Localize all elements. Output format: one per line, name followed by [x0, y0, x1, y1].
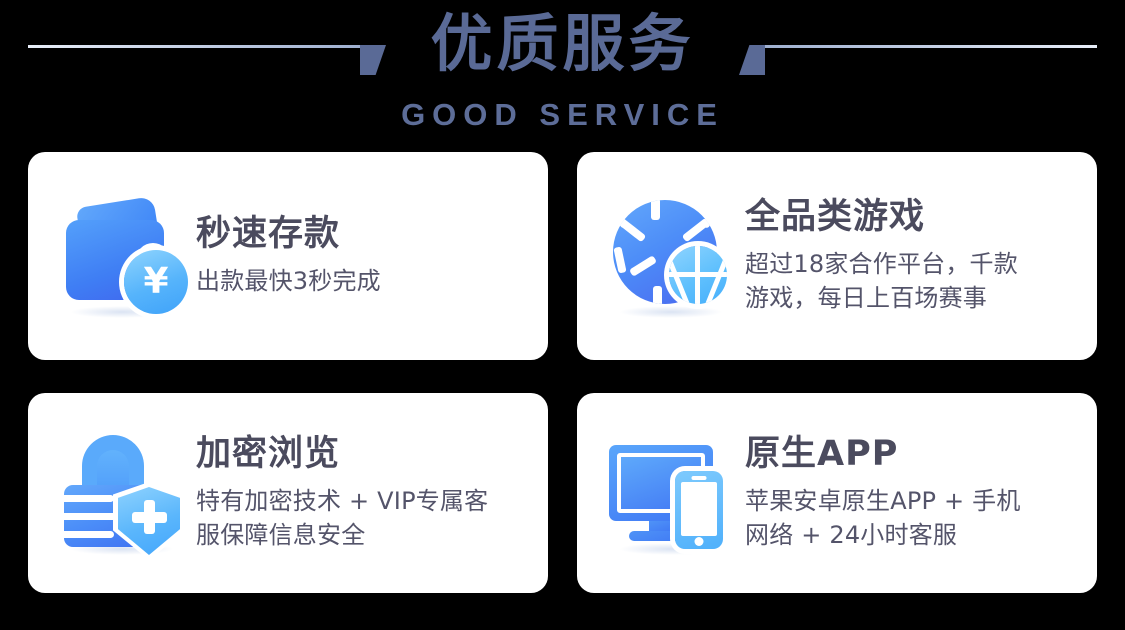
subtitle-line: 特有加密技术 + VIP专属客: [196, 484, 526, 518]
card-subtitle: 苹果安卓原生APP + 手机 网络 + 24小时客服: [745, 484, 1075, 552]
feature-card-native-app[interactable]: 原生APP 苹果安卓原生APP + 手机 网络 + 24小时客服: [577, 393, 1097, 593]
subtitle-line: 出款最快3秒完成: [196, 264, 526, 298]
card-title: 秒速存款: [196, 214, 526, 254]
phone-device: [675, 471, 723, 549]
soccer-basketball-icon: [607, 190, 739, 322]
yen-coin-badge: ¥: [124, 250, 188, 314]
card-title: 全品类游戏: [745, 197, 1075, 237]
subtitle-line: 网络 + 24小时客服: [745, 518, 1075, 552]
icon-shadow: [619, 306, 723, 318]
lock-shield-icon: [58, 427, 190, 559]
feature-card-grid: ¥ 秒速存款 出款最快3秒完成: [28, 152, 1097, 593]
header-rule-right: [765, 45, 1097, 48]
card-subtitle: 超过18家合作平台，千款 游戏，每日上百场赛事: [745, 247, 1075, 315]
page-header: 优质服务 GOOD SERVICE: [0, 0, 1125, 150]
card-text-block: 原生APP 苹果安卓原生APP + 手机 网络 + 24小时客服: [739, 434, 1075, 551]
card-title: 加密浏览: [196, 434, 526, 474]
card-subtitle: 出款最快3秒完成: [196, 264, 526, 298]
phone-home-button: [695, 537, 704, 546]
subtitle-line: 超过18家合作平台，千款: [745, 247, 1075, 281]
card-text-block: 全品类游戏 超过18家合作平台，千款 游戏，每日上百场赛事: [739, 197, 1075, 314]
feature-card-deposit[interactable]: ¥ 秒速存款 出款最快3秒完成: [28, 152, 548, 360]
subtitle-line: 苹果安卓原生APP + 手机: [745, 484, 1075, 518]
card-text-block: 加密浏览 特有加密技术 + VIP专属客 服保障信息安全: [190, 434, 526, 551]
subtitle-line: 游戏，每日上百场赛事: [745, 281, 1075, 315]
card-text-block: 秒速存款 出款最快3秒完成: [190, 214, 526, 297]
feature-card-encryption[interactable]: 加密浏览 特有加密技术 + VIP专属客 服保障信息安全: [28, 393, 548, 593]
wallet-yen-icon: ¥: [58, 190, 190, 322]
card-subtitle: 特有加密技术 + VIP专属客 服保障信息安全: [196, 484, 526, 552]
promo-page: 优质服务 GOOD SERVICE ¥ 秒速存款 出款最快3秒完成: [0, 0, 1125, 630]
phone-screen: [681, 482, 717, 536]
feature-card-games[interactable]: 全品类游戏 超过18家合作平台，千款 游戏，每日上百场赛事: [577, 152, 1097, 360]
cross-icon-horizontal: [132, 512, 167, 523]
subtitle-line: 服保障信息安全: [196, 518, 526, 552]
card-title: 原生APP: [745, 434, 1075, 474]
basketball: [669, 246, 727, 304]
phone-speaker: [692, 476, 707, 480]
monitor-phone-icon: [607, 427, 739, 559]
page-subtitle: GOOD SERVICE: [0, 96, 1125, 133]
page-title: 优质服务: [0, 8, 1125, 79]
